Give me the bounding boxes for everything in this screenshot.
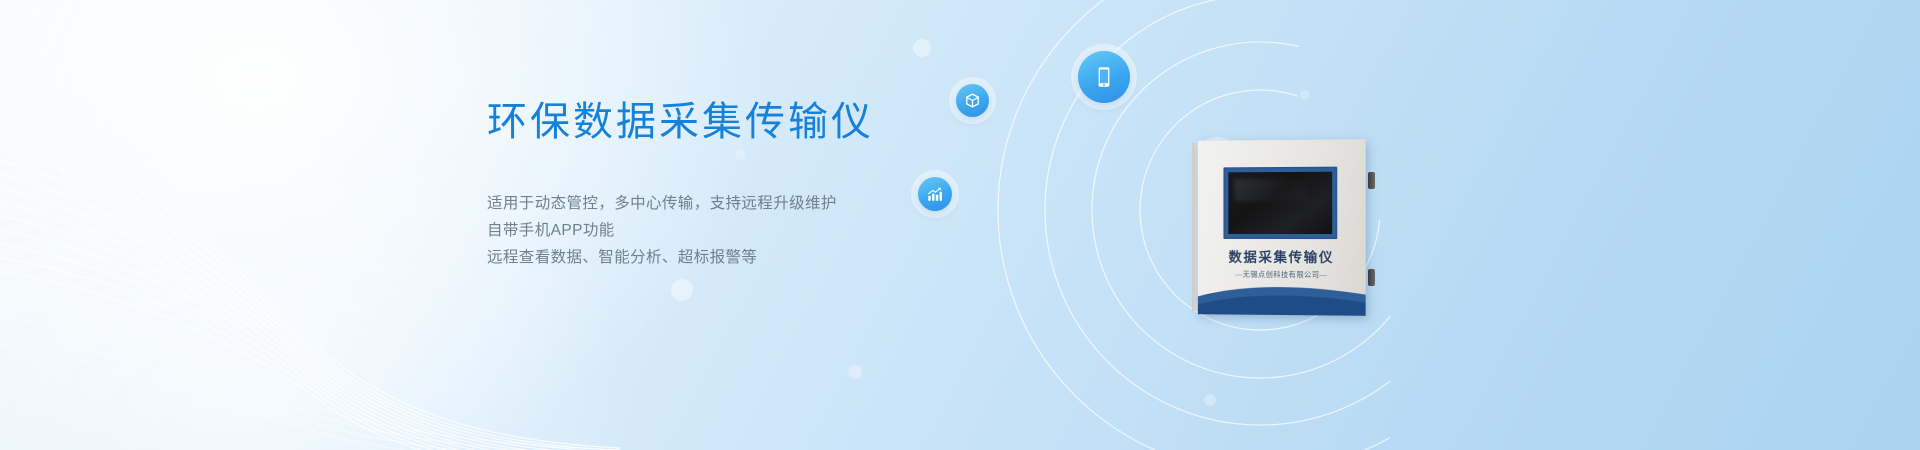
subtitle-line-3: 远程查看数据、智能分析、超标报警等 xyxy=(487,244,1127,271)
hero-banner: 环保数据采集传输仪 适用于动态管控，多中心传输，支持远程升级维护 自带手机APP… xyxy=(0,0,1920,450)
device-side-button-bottom xyxy=(1368,269,1375,286)
box-icon xyxy=(956,84,989,117)
device-label-main: 数据采集传输仪 xyxy=(1198,246,1366,267)
device-enclosure: 数据采集传输仪 —无锡点创科技有限公司— xyxy=(1198,139,1366,316)
device-screen-bezel xyxy=(1223,167,1337,239)
product-device: 数据采集传输仪 —无锡点创科技有限公司— xyxy=(1192,140,1370,315)
subtitle-line-2: 自带手机APP功能 xyxy=(487,217,1127,244)
device-footer-graphic xyxy=(1198,275,1366,316)
subtitle-line-1: 适用于动态管控，多中心传输，支持远程升级维护 xyxy=(487,190,1127,217)
hero-text-block: 环保数据采集传输仪 适用于动态管控，多中心传输，支持远程升级维护 自带手机APP… xyxy=(487,100,1127,271)
device-screen xyxy=(1228,172,1332,234)
page-title: 环保数据采集传输仪 xyxy=(487,100,1127,144)
phone-icon xyxy=(1078,51,1130,103)
chart-icon xyxy=(918,177,952,211)
device-side-button-top xyxy=(1368,172,1375,189)
